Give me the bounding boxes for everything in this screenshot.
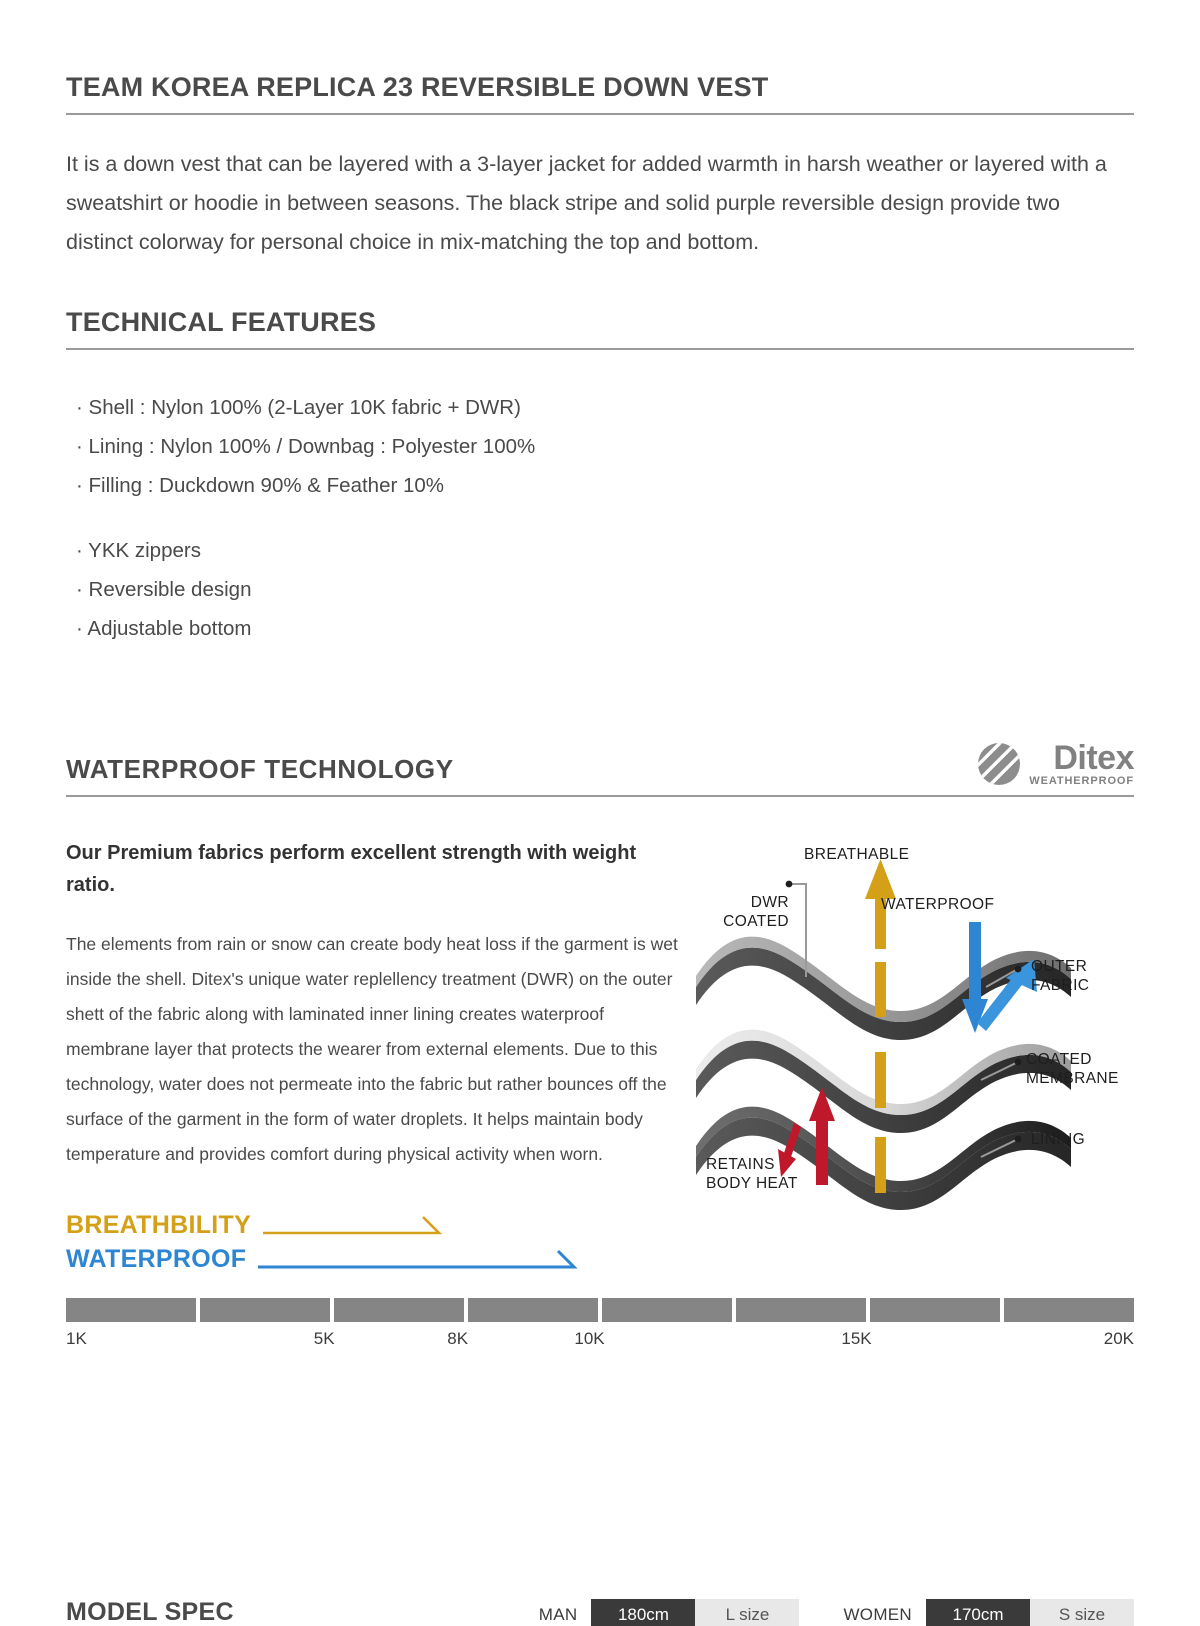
spec-size-badge: L size (695, 1599, 799, 1626)
scale-segment (334, 1298, 464, 1322)
scale-tick: 20K (1104, 1329, 1134, 1349)
ditex-logo: Ditex WEATHERPROOF (977, 742, 1134, 787)
label-dwr-coated: DWR COATED (709, 893, 789, 931)
model-spec-section: MODEL SPEC MAN 180cm L size WOMEN 170cm … (66, 1598, 1134, 1626)
feature-item: · Adjustable bottom (66, 609, 1134, 648)
rating-scale-bar (66, 1298, 1134, 1322)
scale-segment (736, 1298, 866, 1322)
scale-segment (1004, 1298, 1134, 1322)
model-spec-groups: MAN 180cm L size WOMEN 170cm S size (539, 1599, 1134, 1626)
scale-segment (200, 1298, 330, 1322)
feature-item: · Shell : Nylon 100% (2-Layer 10K fabric… (66, 388, 1134, 427)
label-breathable: BREATHABLE (804, 845, 909, 864)
waterproof-technology-heading: WATERPROOF TECHNOLOGY (66, 754, 1134, 785)
waterproof-label: WATERPROOF (66, 1245, 246, 1274)
spec-size-badge: S size (1030, 1599, 1134, 1626)
waterproof-body: Our Premium fabrics perform excellent st… (66, 837, 1134, 1172)
scale-tick: 10K (574, 1329, 604, 1349)
scale-segment (870, 1298, 1000, 1322)
label-waterproof: WATERPROOF (881, 895, 994, 914)
model-spec-group-women: WOMEN 170cm S size (843, 1599, 1134, 1626)
breathability-arrow-icon (261, 1212, 449, 1238)
scale-tick: 15K (841, 1329, 871, 1349)
feature-item: · Lining : Nylon 100% / Downbag : Polyes… (66, 427, 1134, 466)
page-title: TEAM KOREA REPLICA 23 REVERSIBLE DOWN VE… (66, 72, 1134, 115)
ditex-circle-icon (977, 742, 1021, 786)
spec-height-badge: 180cm (591, 1599, 695, 1626)
feature-list-spacer (66, 505, 1134, 531)
waterproof-lede: Our Premium fabrics perform excellent st… (66, 837, 686, 901)
spec-category-label: WOMEN (843, 1605, 912, 1625)
feature-item: · Reversible design (66, 570, 1134, 609)
technical-features-heading: TECHNICAL FEATURES (66, 307, 1134, 350)
scale-tick: 5K (314, 1329, 335, 1349)
scale-tick: 1K (66, 1329, 87, 1349)
label-coated-membrane: COATED MEMBRANE (1026, 1050, 1119, 1088)
model-spec-title: MODEL SPEC (66, 1598, 234, 1626)
breathability-label: BREATHBILITY (66, 1211, 251, 1240)
intro-paragraph: It is a down vest that can be layered wi… (66, 145, 1111, 262)
ditex-logo-text: Ditex WEATHERPROOF (1029, 742, 1134, 787)
label-outer-fabric: OUTER FABRIC (1031, 957, 1089, 995)
waterproof-paragraph: The elements from rain or snow can creat… (66, 927, 686, 1172)
spec-category-label: MAN (539, 1605, 578, 1625)
scale-tick: 8K (447, 1329, 468, 1349)
scale-segment (602, 1298, 732, 1322)
waterproof-arrow-icon (256, 1246, 586, 1272)
spec-height-badge: 170cm (926, 1599, 1030, 1626)
label-lining: LINING (1031, 1130, 1085, 1149)
waterproof-text-column: Our Premium fabrics perform excellent st… (66, 837, 696, 1172)
scale-segment (468, 1298, 598, 1322)
waterproof-row: WATERPROOF (66, 1242, 1134, 1276)
label-retains-body-heat: RETAINS BODY HEAT (706, 1155, 798, 1193)
fabric-layer-diagram: BREATHABLE WATERPROOF DWR COATED OUTER F… (696, 837, 1134, 1172)
feature-item: · Filling : Duckdown 90% & Feather 10% (66, 466, 1134, 505)
scale-tick-labels: 1K 5K 8K 10K 15K 20K (66, 1329, 1134, 1359)
product-spec-page: TEAM KOREA REPLICA 23 REVERSIBLE DOWN VE… (0, 72, 1200, 1626)
feature-item: · YKK zippers (66, 531, 1134, 570)
scale-segment (66, 1298, 196, 1322)
ditex-tagline: WEATHERPROOF (1029, 775, 1134, 787)
waterproof-technology-header: WATERPROOF TECHNOLOGY Ditex WEATHERPROOF (66, 754, 1134, 797)
technical-features-list: · Shell : Nylon 100% (2-Layer 10K fabric… (66, 388, 1134, 648)
performance-gauge: BREATHBILITY WATERPROOF 1K 5K 8K 10 (66, 1208, 1134, 1359)
model-spec-group-man: MAN 180cm L size (539, 1599, 800, 1626)
ditex-wordmark: Ditex (1053, 742, 1134, 774)
